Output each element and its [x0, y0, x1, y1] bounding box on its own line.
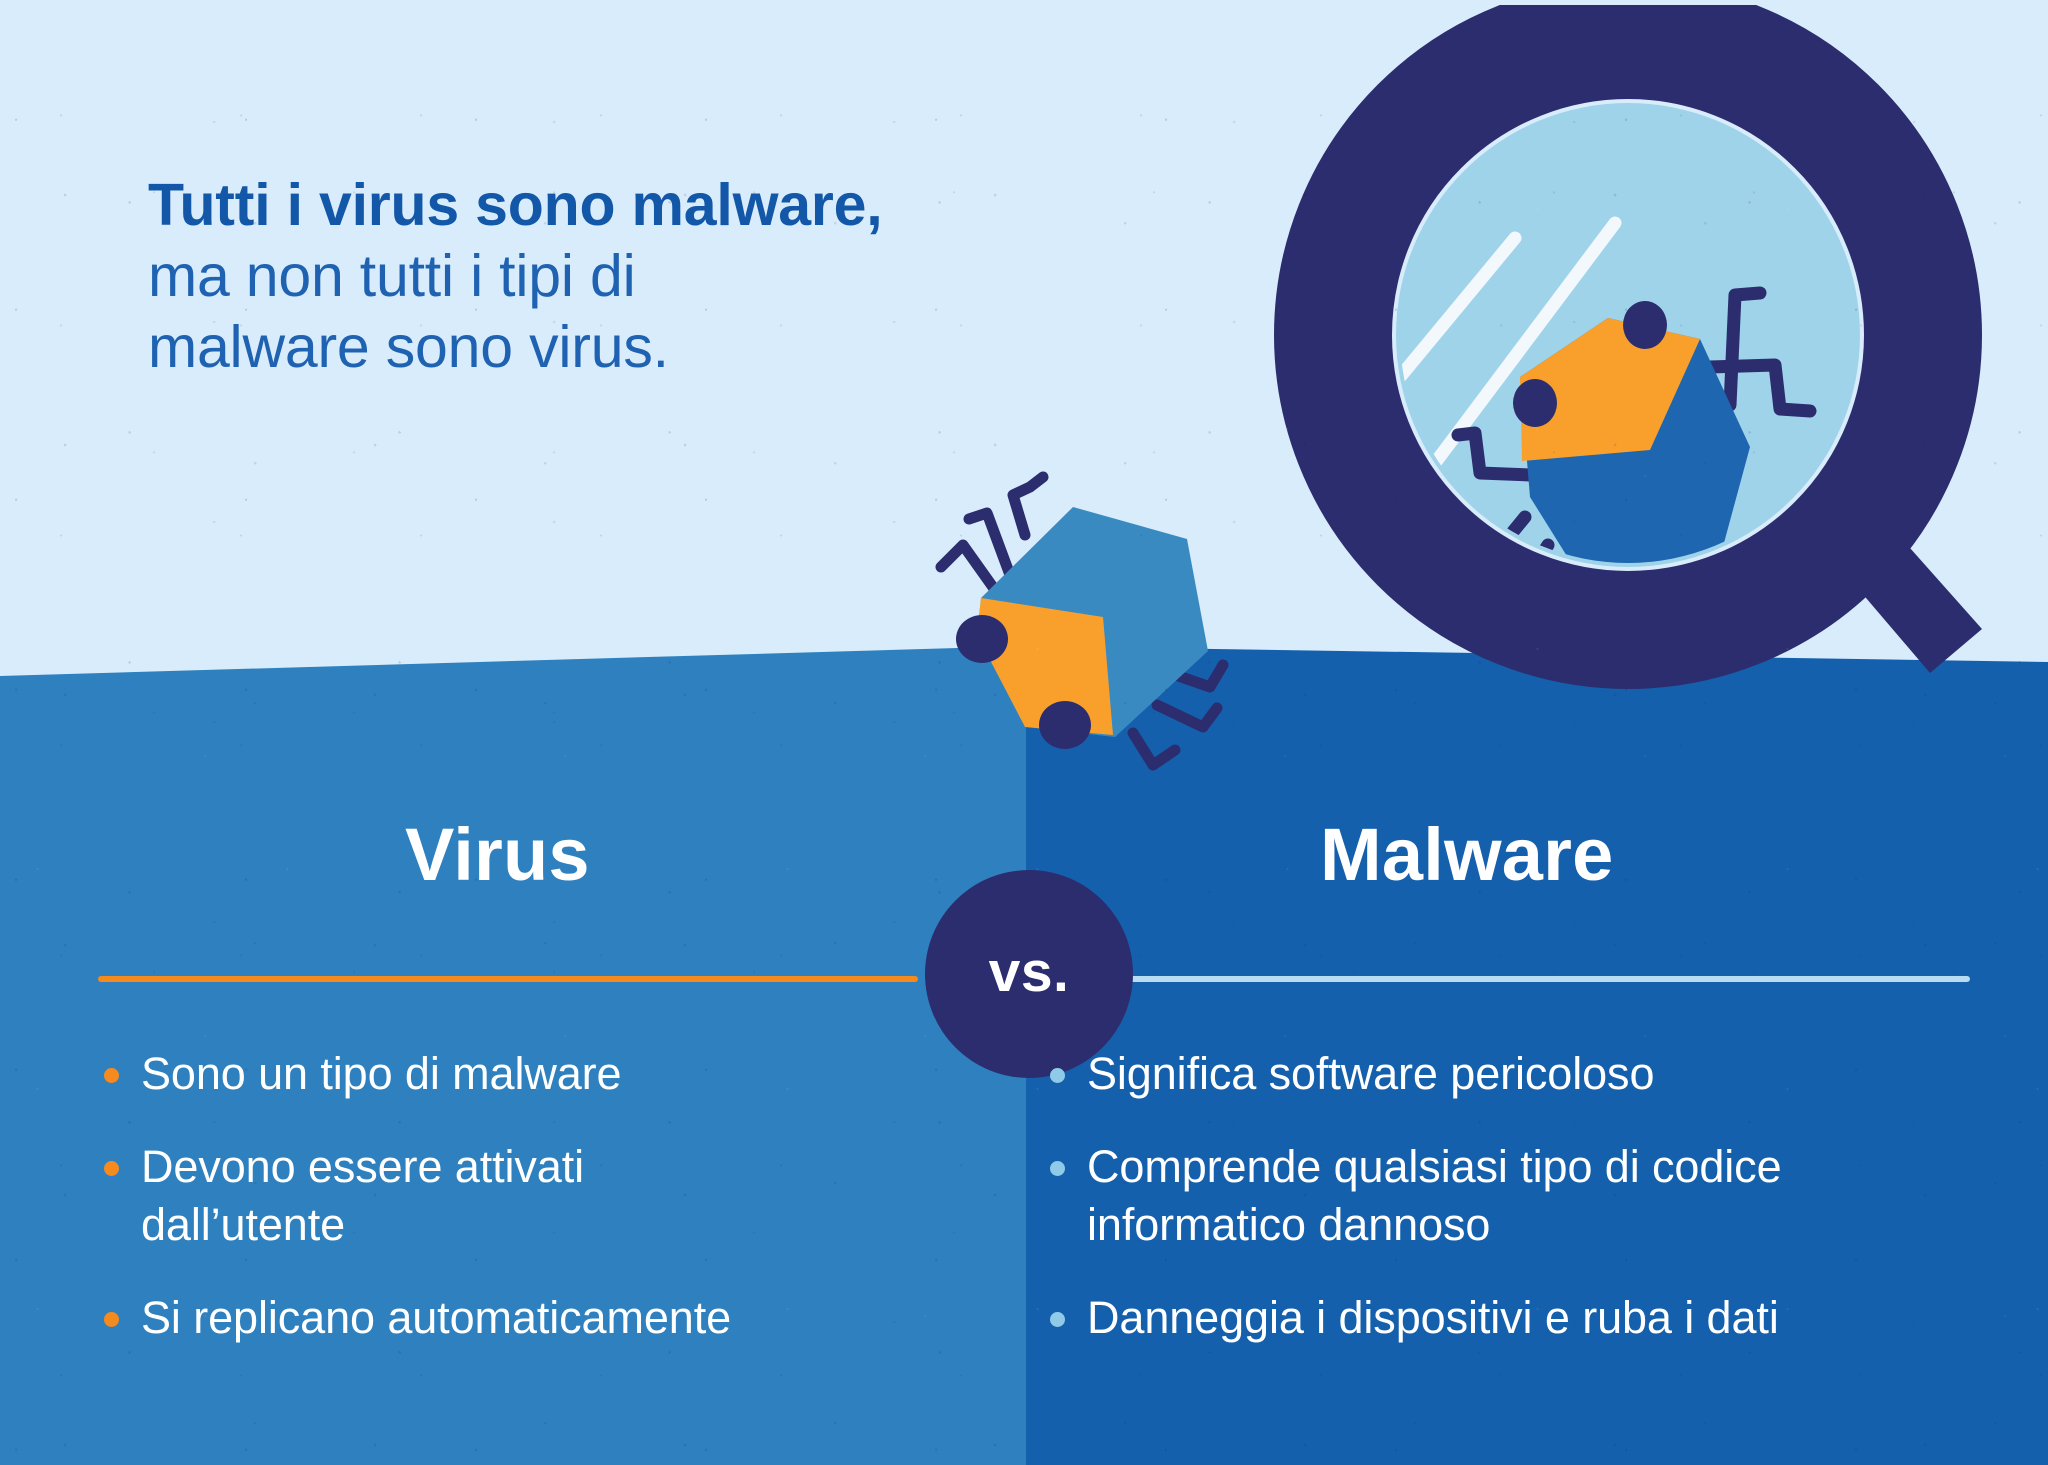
bullet-list-virus: Sono un tipo di malware Devono essere at… [104, 1045, 984, 1381]
bug-icon [925, 465, 1270, 785]
divider-rule-right [1128, 976, 1970, 982]
bullet-dot-icon [104, 1068, 119, 1083]
bullet-dot-icon [1050, 1161, 1065, 1176]
headline-line-1: Tutti i virus sono malware, [148, 170, 1108, 241]
list-item-label: Comprende qualsiasi tipo di codice infor… [1087, 1138, 1992, 1255]
bullet-dot-icon [1050, 1312, 1065, 1327]
column-title-malware: Malware [1320, 812, 1613, 897]
bullet-dot-icon [104, 1161, 119, 1176]
versus-label: vs. [989, 939, 1070, 1005]
list-item: Danneggia i dispositivi e ruba i dati [1050, 1289, 2010, 1348]
list-item-label: Danneggia i dispositivi e ruba i dati [1087, 1289, 1779, 1348]
headline-line-3: malware sono virus. [148, 312, 1108, 383]
bullet-dot-icon [104, 1312, 119, 1327]
headline: Tutti i virus sono malware, ma non tutti… [148, 170, 1108, 382]
infographic-canvas: Tutti i virus sono malware, ma non tutti… [0, 0, 2048, 1465]
bullet-list-malware: Significa software pericoloso Comprende … [1050, 1045, 2010, 1381]
list-item-label: Significa software pericoloso [1087, 1045, 1654, 1104]
list-item-label: Sono un tipo di malware [141, 1045, 621, 1104]
list-item-label: Devono essere attivati dall’utente [141, 1138, 701, 1255]
list-item-label: Si replicano automaticamente [141, 1289, 731, 1348]
list-item: Sono un tipo di malware [104, 1045, 984, 1104]
list-item: Devono essere attivati dall’utente [104, 1138, 984, 1255]
divider-rule-left [98, 976, 918, 982]
headline-line-2: ma non tutti i tipi di [148, 241, 1108, 312]
magnifying-glass-icon [1230, 5, 2048, 715]
list-item: Comprende qualsiasi tipo di codice infor… [1050, 1138, 2010, 1255]
bullet-dot-icon [1050, 1068, 1065, 1083]
list-item: Significa software pericoloso [1050, 1045, 2010, 1104]
list-item: Si replicano automaticamente [104, 1289, 984, 1348]
column-title-virus: Virus [405, 812, 590, 897]
